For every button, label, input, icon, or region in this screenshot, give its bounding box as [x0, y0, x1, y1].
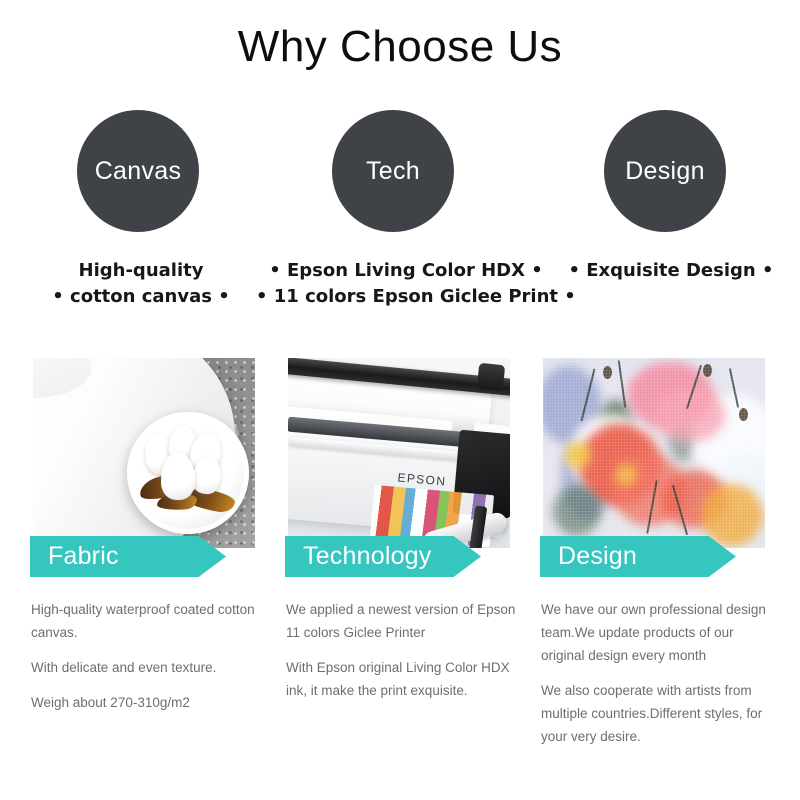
cotton-boll — [161, 452, 195, 500]
photo-technology: EPSON — [288, 358, 510, 548]
caption-canvas: High-quality • cotton canvas • — [26, 258, 256, 310]
banner-design-label: Design — [540, 544, 637, 569]
description-column-design: We have our own professional design team… — [541, 598, 775, 760]
printer-bar-cap — [477, 363, 505, 391]
caption-canvas-line-2: • cotton canvas • — [26, 284, 256, 310]
caption-tech: • Epson Living Color HDX • • 11 colors E… — [256, 258, 556, 310]
description-paragraph: With Epson original Living Color HDX ink… — [286, 656, 520, 702]
description-column-fabric: High-quality waterproof coated cotton ca… — [31, 598, 265, 726]
caption-design: • Exquisite Design • — [556, 258, 786, 284]
description-column-technology: We applied a newest version of Epson 11 … — [286, 598, 520, 714]
photo-fabric — [33, 358, 255, 548]
canvas-weave-texture — [543, 358, 765, 548]
badge-tech: Tech — [332, 110, 454, 232]
description-paragraph: We have our own professional design team… — [541, 598, 775, 667]
caption-row: High-quality • cotton canvas • • Epson L… — [0, 258, 800, 336]
description-paragraph: Weigh about 270-310g/m2 — [31, 691, 265, 714]
description-paragraph: We applied a newest version of Epson 11 … — [286, 598, 520, 644]
description-paragraph: With delicate and even texture. — [31, 656, 265, 679]
badge-tech-label: Tech — [366, 159, 420, 184]
caption-tech-line-2: • 11 colors Epson Giclee Print • — [256, 284, 556, 310]
badge-canvas-label: Canvas — [95, 159, 182, 184]
canvas-roll-edge — [33, 358, 91, 398]
page-title: Why Choose Us — [0, 22, 800, 72]
caption-design-line-1: • Exquisite Design • — [556, 258, 786, 284]
photo-design — [543, 358, 765, 548]
banner-technology-label: Technology — [285, 544, 431, 569]
description-paragraph: High-quality waterproof coated cotton ca… — [31, 598, 265, 644]
epson-logo: EPSON — [397, 470, 447, 488]
badge-design: Design — [604, 110, 726, 232]
description-paragraph: We also cooperate with artists from mult… — [541, 679, 775, 748]
caption-tech-line-1: • Epson Living Color HDX • — [256, 258, 556, 284]
banner-technology: Technology — [285, 536, 481, 577]
badge-design-label: Design — [625, 159, 705, 184]
badge-canvas: Canvas — [77, 110, 199, 232]
banner-fabric-label: Fabric — [30, 544, 119, 569]
banner-design: Design — [540, 536, 736, 577]
badge-row: Canvas Tech Design — [0, 110, 800, 235]
caption-canvas-line-1: High-quality — [26, 258, 256, 284]
white-plate — [127, 412, 249, 534]
banner-fabric: Fabric — [30, 536, 226, 577]
